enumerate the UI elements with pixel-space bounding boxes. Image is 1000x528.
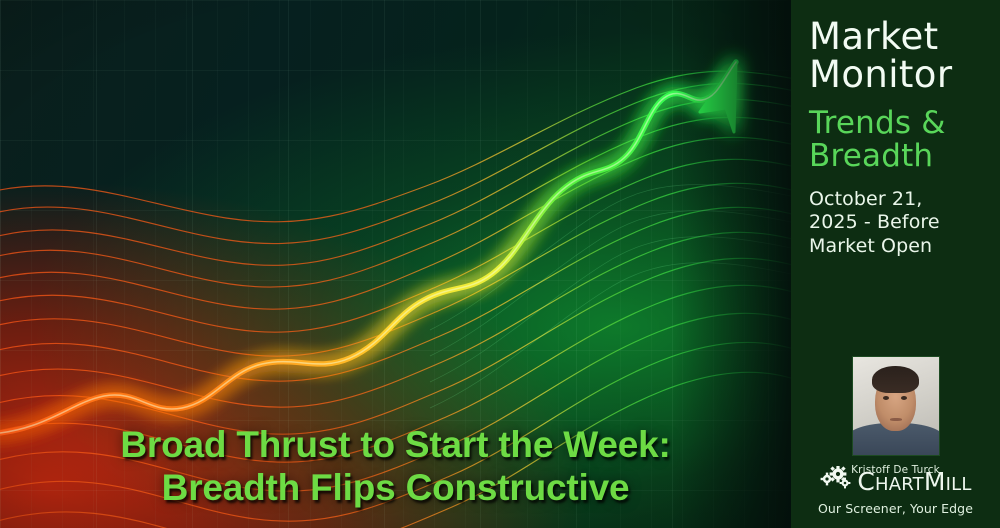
logo-tagline: Our Screener, Your Edge xyxy=(791,501,1000,516)
sidebar-panel: Market Monitor Trends & Breadth October … xyxy=(791,0,1000,528)
hero-artwork: Broad Thrust to Start the Week: Breadth … xyxy=(0,0,791,528)
three-gears-icon xyxy=(819,466,853,497)
sidebar-title-line-1: Market xyxy=(809,18,984,56)
sidebar-title-line-2: Monitor xyxy=(809,56,984,94)
author-block: Kristoff De Turck xyxy=(791,356,1000,476)
avatar xyxy=(852,356,940,456)
chartmill-wordmark: CHARTMILL xyxy=(857,469,971,494)
poster-root: Broad Thrust to Start the Week: Breadth … xyxy=(0,0,1000,528)
sidebar-date-line-3: Market Open xyxy=(809,235,984,258)
logo-ill: ILL xyxy=(946,474,972,495)
headline: Broad Thrust to Start the Week: Breadth … xyxy=(0,424,791,510)
headline-line-1: Broad Thrust to Start the Week: xyxy=(120,424,670,465)
chartmill-logo[interactable]: CHARTMILL Our Screener, Your Edge xyxy=(791,466,1000,516)
sidebar-date-line-1: October 21, xyxy=(809,188,984,211)
logo-m: M xyxy=(924,467,946,496)
sidebar-date-line-2: 2025 - Before xyxy=(809,211,984,234)
sidebar-subtitle-line-1: Trends & xyxy=(809,107,984,140)
sidebar-subtitle-line-2: Breadth xyxy=(809,140,984,173)
headline-line-2: Breadth Flips Constructive xyxy=(0,467,791,510)
sidebar-title: Market Monitor xyxy=(809,18,984,93)
sidebar-date: October 21, 2025 - Before Market Open xyxy=(809,188,984,258)
logo-c: C xyxy=(857,467,875,496)
sidebar-subtitle: Trends & Breadth xyxy=(809,107,984,173)
logo-hart: HART xyxy=(875,474,924,495)
